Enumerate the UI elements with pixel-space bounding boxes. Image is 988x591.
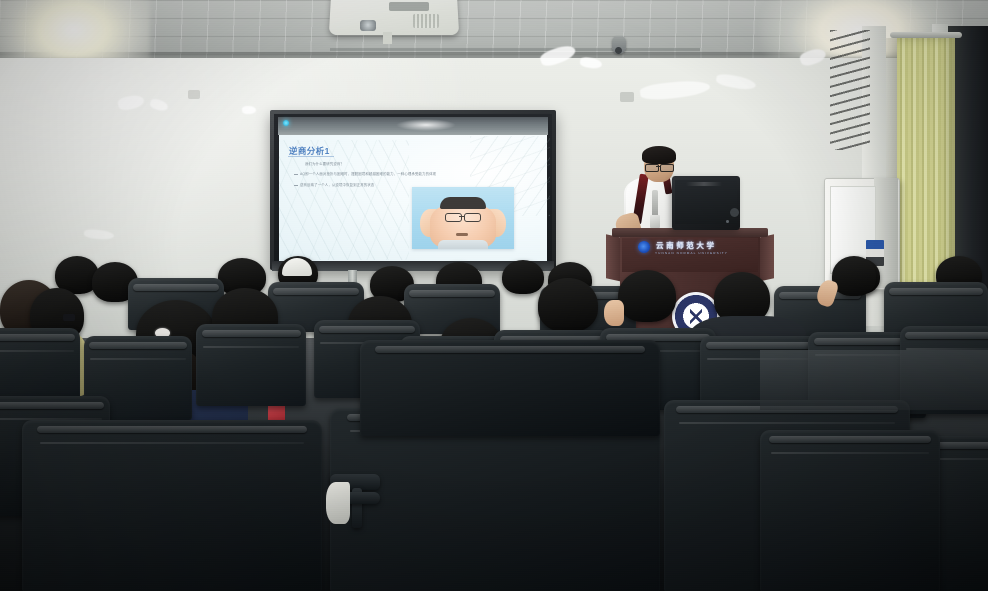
power-led-icon (283, 120, 289, 126)
projector-lens-icon (360, 20, 376, 31)
presenter-badge (650, 215, 660, 228)
presenter-hair (642, 146, 676, 164)
illustration-glasses-left (445, 213, 462, 222)
seat[interactable] (360, 340, 660, 436)
lectern-wing-right (758, 234, 774, 281)
seat[interactable] (0, 328, 80, 406)
seat[interactable] (22, 420, 322, 591)
presenter-glasses-bridge (656, 166, 661, 167)
monitor-screen (675, 180, 737, 224)
monitor-hinge (730, 208, 739, 217)
monitor-glare (686, 182, 722, 186)
curtain-rod (890, 32, 962, 38)
seat[interactable] (760, 430, 940, 591)
paper-sheet (326, 482, 350, 524)
audience-hand (604, 300, 624, 326)
illustration-hair (440, 197, 486, 209)
monitor-power-led-icon (726, 220, 729, 223)
illustration-shirt (438, 240, 488, 249)
illustration-mouth (456, 233, 468, 236)
slide-bullet: AQ即一个人面对挫折与困难时，摆脱困境和超越困难的能力，一种心理承受能力的体现 (300, 172, 436, 176)
floor-strip (760, 350, 988, 410)
audience-head (538, 278, 598, 332)
slide-bullet-dash (294, 174, 298, 175)
projector-mount (383, 32, 392, 44)
lecture-hall-photo: 逆商分析1 我们为什么要研究逆商？ AQ即一个人面对挫折与困难时，摆脱困境和超越… (0, 0, 988, 591)
slide-lead-text: 我们为什么要研究逆商？ (305, 162, 344, 166)
university-name-en: YUNNAN NORMAL UNIVERSITY (655, 251, 728, 255)
illustration-glasses-right (464, 213, 481, 222)
projector-top-panel (389, 2, 429, 11)
slide-bullet-dash (294, 185, 298, 186)
ceiling-rail (330, 48, 700, 51)
presenter-glasses-right (660, 164, 674, 172)
slide-title-underline (288, 156, 334, 157)
university-name-cn: 云南师范大学 (656, 240, 717, 251)
slide-bamboo-left (279, 140, 409, 260)
security-camera-icon (612, 36, 626, 54)
audience-head (618, 270, 676, 322)
audience-glasses-icon (63, 314, 75, 321)
slide-bullet: 逆商反映了一个人，从逆境中恢复到正常的状态 (300, 183, 374, 187)
cable-bundle (830, 30, 870, 150)
ceiling-light-icon (0, 0, 150, 60)
display-glare-spot (396, 119, 456, 131)
projector-vent (413, 14, 439, 28)
audience-head (502, 260, 544, 294)
wall-mark (242, 106, 256, 114)
audience-head (832, 256, 876, 296)
presenter-lanyard (652, 190, 658, 218)
wall-socket (620, 92, 634, 102)
illustration-glasses-bridge (459, 216, 465, 217)
wall-socket (188, 90, 200, 99)
slide-illustration (412, 187, 514, 249)
seat[interactable] (196, 324, 306, 406)
university-logo-icon (638, 241, 650, 253)
